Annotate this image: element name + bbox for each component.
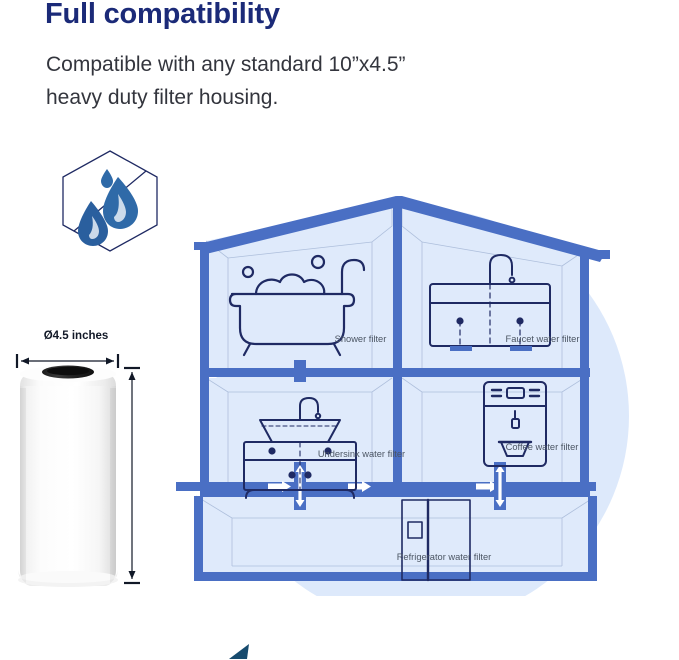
room-label-undersink: Undersink water filter [289, 449, 434, 459]
riser-coffee [494, 462, 506, 510]
page-title: Full compatibility [45, 0, 280, 31]
triangle-accent-mark [225, 644, 249, 660]
room-label-coffee: Coffee water filter [473, 442, 611, 452]
cartridge-figure: Ø4.5 inches 10 inches [0, 330, 160, 600]
hexagon-water-drops-icon [58, 148, 162, 254]
room-label-shower: Shower filter [293, 334, 428, 344]
cartridge-drawing [0, 330, 160, 600]
room-label-refrigerator: Refrigerator water filter [370, 552, 518, 562]
water-supply-pipe [176, 482, 596, 491]
page-subtitle: Compatible with any standard 10”x4.5” he… [46, 48, 406, 114]
house-cutaway-diagram [176, 196, 679, 596]
page-root: Full compatibility Compatible with any s… [0, 0, 679, 659]
room-label-faucet: Faucet water filter [470, 334, 615, 344]
riser-upper [294, 360, 306, 382]
